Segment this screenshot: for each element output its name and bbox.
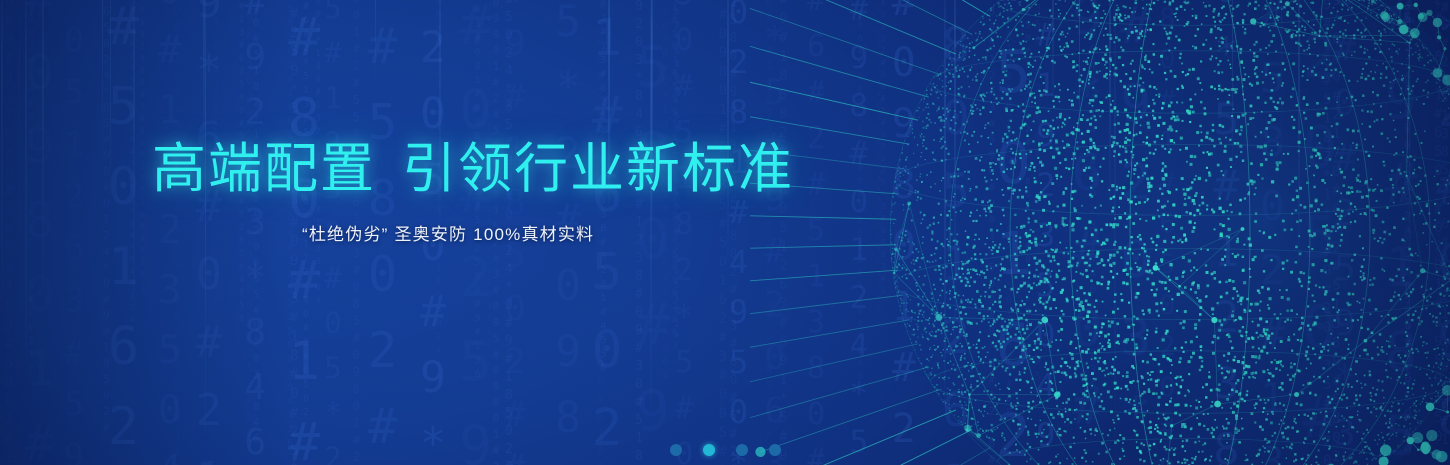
- globe-land-dot: [1377, 240, 1379, 242]
- globe-land-dot: [1243, 356, 1245, 358]
- globe-land-dot: [1142, 82, 1144, 84]
- globe-land-dot: [1423, 223, 1425, 225]
- globe-land-dot: [1393, 80, 1394, 81]
- globe-land-dot: [1320, 350, 1323, 353]
- globe-land-dot: [1122, 49, 1125, 52]
- globe-land-dot: [1061, 50, 1063, 52]
- globe-land-dot: [1394, 129, 1396, 131]
- globe-land-dot: [1093, 5, 1095, 7]
- globe-land-dot: [990, 143, 992, 145]
- globe-land-dot: [975, 306, 977, 308]
- globe-land-dot: [1436, 401, 1437, 402]
- globe-land-dot: [1068, 266, 1070, 268]
- globe-land-dot: [1401, 88, 1403, 90]
- globe-land-dot: [1093, 29, 1095, 31]
- globe-land-dot: [1368, 0, 1370, 1]
- globe-land-dot: [1385, 4, 1386, 5]
- globe-land-dot: [1084, 37, 1086, 39]
- globe-land-dot: [1298, 131, 1301, 134]
- globe-land-dot: [1308, 47, 1310, 49]
- globe-land-dot: [941, 160, 943, 162]
- globe-land-dot: [1244, 197, 1246, 199]
- globe-land-dot: [1185, 404, 1188, 407]
- globe-land-dot: [1308, 281, 1311, 284]
- globe-land-dot: [1434, 67, 1436, 69]
- globe-land-dot: [1282, 365, 1284, 367]
- globe-land-dot: [1418, 60, 1419, 61]
- globe-land-dot: [1222, 210, 1225, 213]
- globe-parallel: [930, 51, 1450, 113]
- globe-land-dot: [1405, 395, 1407, 397]
- globe-land-dot: [1219, 124, 1222, 127]
- globe-land-dot: [971, 113, 973, 115]
- globe-land-dot: [1400, 299, 1402, 301]
- globe-land-dot: [969, 47, 971, 49]
- globe-land-dot: [1254, 220, 1257, 223]
- globe-land-dot: [1348, 276, 1350, 278]
- globe-land-dot: [1340, 114, 1342, 116]
- globe-land-dot: [1278, 74, 1281, 77]
- globe-land-dot: [946, 214, 948, 216]
- globe-land-dot: [1420, 180, 1422, 182]
- globe-land-dot: [1385, 4, 1386, 5]
- globe-land-dot: [1171, 241, 1173, 243]
- globe-land-dot: [1341, 234, 1343, 236]
- globe-land-dot: [980, 21, 982, 23]
- globe-land-dot: [1335, 415, 1337, 417]
- globe-land-dot: [1284, 229, 1287, 232]
- globe-land-dot: [1146, 114, 1148, 116]
- globe-land-dot: [941, 180, 942, 181]
- globe-land-dot: [993, 23, 995, 25]
- globe-land-dot: [1035, 310, 1037, 312]
- globe-land-dot: [1272, 77, 1274, 79]
- globe-ray: [750, 344, 918, 413]
- globe-land-dot: [1305, 354, 1307, 356]
- globe-land-dot: [1114, 24, 1116, 26]
- globe-land-dot: [987, 202, 989, 204]
- globe-land-dot: [1391, 317, 1393, 319]
- globe-land-dot: [975, 79, 977, 81]
- matrix-column-small: 9#30#5182*1*5#9#20635#9203*846: [855, 0, 865, 385]
- globe-land-dot: [1131, 11, 1133, 13]
- globe-land-dot: [1158, 116, 1161, 119]
- globe-land-dot: [1410, 39, 1411, 40]
- globe-land-dot: [1423, 341, 1425, 343]
- globe-land-dot: [1019, 245, 1021, 247]
- globe-land-dot: [1090, 110, 1093, 113]
- globe-land-dot: [1443, 276, 1445, 278]
- globe-land-dot: [1023, 225, 1026, 228]
- globe-land-dot: [1412, 313, 1414, 315]
- globe-land-dot: [1152, 110, 1154, 112]
- globe-land-dot: [988, 137, 990, 139]
- globe-land-dot: [1082, 22, 1084, 24]
- globe-land-dot: [1314, 322, 1317, 325]
- globe-land-dot: [1218, 85, 1220, 87]
- globe-land-dot: [1384, 460, 1385, 461]
- globe-land-dot: [1423, 103, 1425, 105]
- globe-land-dot: [1082, 141, 1084, 143]
- globe-land-dot: [1371, 332, 1373, 334]
- globe-meridian: [1010, 0, 1370, 465]
- globe-land-dot: [1310, 204, 1313, 207]
- globe-land-dot: [1158, 268, 1160, 270]
- globe-land-dot: [999, 297, 1001, 299]
- globe-land-dot: [1282, 220, 1285, 223]
- globe-land-dot: [1322, 16, 1323, 17]
- globe-land-dot: [989, 210, 992, 213]
- globe-land-dot: [1222, 125, 1224, 127]
- globe-land-dot: [1407, 156, 1409, 158]
- globe-land-dot: [1366, 195, 1368, 197]
- globe-land-dot: [1347, 327, 1349, 329]
- globe-land-dot: [1427, 49, 1428, 50]
- globe-land-dot: [1165, 403, 1167, 405]
- globe-land-dot: [949, 80, 950, 81]
- globe-land-dot: [1032, 231, 1034, 233]
- globe-land-dot: [1314, 353, 1316, 355]
- globe-land-dot: [1334, 20, 1335, 21]
- matrix-streak: [954, 0, 956, 365]
- globe-land-dot: [1108, 339, 1110, 341]
- globe-land-dot: [1412, 71, 1413, 72]
- globe-land-dot: [1132, 324, 1134, 326]
- globe-land-dot: [1370, 399, 1371, 400]
- globe-land-dot: [1413, 416, 1414, 417]
- globe-land-dot: [1085, 269, 1088, 272]
- globe-land-dot: [1157, 379, 1160, 382]
- globe-land-dot: [1004, 22, 1006, 24]
- globe-land-dot: [1241, 335, 1243, 337]
- globe-land-dot: [1400, 94, 1401, 95]
- globe-land-dot: [1379, 439, 1380, 440]
- globe-land-dot: [1064, 46, 1066, 48]
- globe-land-dot: [1068, 117, 1070, 119]
- globe-land-dot: [1317, 55, 1319, 57]
- globe-land-dot: [1390, 299, 1393, 302]
- globe-land-dot: [997, 1, 998, 2]
- globe-land-dot: [1095, 207, 1097, 209]
- globe-land-dot: [1095, 62, 1098, 65]
- globe-land-dot: [1110, 60, 1112, 62]
- globe-land-dot: [1152, 23, 1154, 25]
- globe-land-dot: [1443, 76, 1445, 78]
- globe-land-dot: [1426, 205, 1428, 207]
- globe-land-dot: [1130, 267, 1133, 270]
- globe-land-dot: [1366, 195, 1369, 198]
- globe-land-dot: [1206, 271, 1209, 274]
- globe-land-dot: [1346, 0, 1347, 1]
- matrix-column: 5#98#0124*59*6#0#217: [841, 0, 877, 465]
- globe-land-dot: [1439, 398, 1440, 399]
- globe-land-dot: [1001, 97, 1004, 100]
- globe-meridian: [1130, 0, 1250, 465]
- globe-land-dot: [1110, 372, 1112, 374]
- globe-land-dot: [1266, 6, 1267, 7]
- globe-land-dot: [1419, 369, 1420, 370]
- globe-land-dot: [1398, 410, 1400, 412]
- globe-land-dot: [1044, 306, 1046, 308]
- globe-land-dot: [1424, 270, 1426, 272]
- globe-land-dot: [992, 40, 994, 42]
- globe-land-dot: [1418, 58, 1419, 59]
- globe-land-dot: [1399, 24, 1401, 26]
- globe-land-dot: [1286, 438, 1289, 441]
- globe-land-dot: [989, 162, 992, 165]
- globe-land-dot: [894, 180, 895, 181]
- globe-land-dot: [1195, 192, 1197, 194]
- globe-land-dot: [1111, 144, 1114, 147]
- globe-land-dot: [891, 259, 892, 260]
- globe-land-dot: [1214, 26, 1216, 28]
- globe-land-dot: [1237, 301, 1239, 303]
- globe-land-dot: [1425, 392, 1426, 393]
- globe-land-dot: [1365, 28, 1367, 30]
- globe-land-dot: [1242, 26, 1243, 27]
- globe-land-dot: [1355, 394, 1357, 396]
- globe-land-dot: [1022, 103, 1024, 105]
- globe-land-dot: [1213, 335, 1216, 338]
- globe-land-dot: [1147, 198, 1149, 200]
- globe-land-dot: [900, 159, 901, 160]
- globe-land-dot: [1386, 340, 1387, 341]
- globe-land-dot: [1364, 384, 1366, 386]
- globe-land-dot: [1124, 108, 1127, 111]
- globe-land-dot: [1113, 16, 1116, 19]
- globe-land-dot: [923, 214, 925, 216]
- globe-land-dot: [1152, 115, 1154, 117]
- globe-land-dot: [1029, 94, 1031, 96]
- globe-land-dot: [1104, 54, 1106, 56]
- globe-land-dot: [1269, 30, 1271, 32]
- globe-land-dot: [1314, 41, 1316, 43]
- globe-land-dot: [1441, 242, 1443, 244]
- globe-land-dot: [1219, 223, 1222, 226]
- globe-land-dot: [993, 94, 995, 96]
- globe-land-dot: [1411, 348, 1413, 350]
- globe-land-dot: [1130, 381, 1133, 384]
- globe-land-dot: [1383, 63, 1384, 64]
- globe-land-dot: [1236, 405, 1239, 408]
- globe-land-dot: [1261, 428, 1264, 431]
- globe-land-dot: [1128, 216, 1131, 219]
- globe-land-dot: [1270, 40, 1273, 43]
- globe-land-dot: [1229, 204, 1231, 206]
- globe-land-dot: [1407, 343, 1409, 345]
- globe-land-dot: [1072, 317, 1075, 320]
- globe-land-dot: [1066, 143, 1069, 146]
- globe-land-dot: [915, 192, 917, 194]
- globe-land-dot: [1400, 93, 1402, 95]
- globe-land-dot: [1361, 73, 1363, 75]
- globe-land-dot: [1124, 212, 1126, 214]
- globe-land-dot: [943, 126, 945, 128]
- globe-land-dot: [995, 97, 997, 99]
- globe-land-dot: [1351, 191, 1353, 193]
- globe-land-dot: [1399, 49, 1400, 50]
- globe-land-dot: [1443, 389, 1444, 390]
- globe-land-dot: [1002, 194, 1004, 196]
- globe-land-dot: [1352, 211, 1354, 213]
- globe-land-dot: [1305, 117, 1307, 119]
- globe-land-dot: [990, 9, 991, 10]
- globe-land-dot: [1061, 126, 1063, 128]
- globe-land-dot: [1106, 97, 1108, 99]
- globe-land-dot: [974, 269, 977, 272]
- globe-land-dot: [1191, 282, 1193, 284]
- globe-land-dot: [1340, 239, 1343, 242]
- globe-land-dot: [1104, 243, 1106, 245]
- globe-land-dot: [1241, 361, 1244, 364]
- globe-land-dot: [1194, 222, 1196, 224]
- globe-land-dot: [1296, 195, 1299, 198]
- globe-land-dot: [1313, 24, 1315, 26]
- globe-land-dot: [1398, 191, 1401, 194]
- globe-land-dot: [1272, 435, 1274, 437]
- globe-land-dot: [1019, 4, 1020, 5]
- globe-land-dot: [1421, 40, 1422, 41]
- globe-land-dot: [1198, 177, 1201, 180]
- globe-land-dot: [1014, 214, 1016, 216]
- globe-land-dot: [975, 234, 977, 236]
- globe-land-dot: [979, 110, 980, 111]
- globe-land-dot: [1298, 15, 1300, 17]
- globe-land-dot: [1311, 32, 1313, 34]
- globe-land-dot: [1305, 168, 1307, 170]
- globe-land-dot: [1046, 224, 1048, 226]
- globe-land-dot: [1364, 48, 1366, 50]
- globe-land-dot: [1260, 301, 1262, 303]
- globe-land-dot: [1150, 8, 1152, 10]
- globe-land-dot: [963, 35, 964, 36]
- globe-land-dot: [1350, 368, 1352, 370]
- globe-land-dot: [1192, 45, 1194, 47]
- globe-land-dot: [1215, 57, 1217, 59]
- globe-land-dot: [1402, 151, 1404, 153]
- globe-land-dot: [1309, 393, 1311, 395]
- globe-land-dot: [1081, 75, 1083, 77]
- globe-land-dot: [1141, 247, 1143, 249]
- globe-land-dot: [1388, 28, 1389, 29]
- globe-land-dot: [1162, 168, 1164, 170]
- globe-land-dot: [1307, 346, 1309, 348]
- globe-land-dot: [1346, 191, 1349, 194]
- globe-land-dot: [1240, 61, 1243, 64]
- globe-land-dot: [977, 108, 978, 109]
- globe-land-dot: [1441, 362, 1443, 364]
- globe-land-dot: [1301, 285, 1303, 287]
- globe-land-dot: [1210, 30, 1213, 33]
- globe-land-dot: [1340, 157, 1342, 159]
- globe-land-dot: [1324, 182, 1326, 184]
- globe-land-dot: [936, 85, 937, 86]
- globe-land-dot: [1185, 211, 1188, 214]
- globe-land-dot: [1162, 122, 1165, 125]
- globe-land-dot: [1217, 14, 1219, 16]
- globe-land-dot: [1138, 111, 1140, 113]
- globe-land-dot: [1275, 195, 1278, 198]
- globe-land-dot: [1034, 60, 1036, 62]
- globe-land-dot: [1294, 0, 1296, 2]
- globe-land-dot: [982, 24, 984, 26]
- globe-land-dot: [1140, 125, 1142, 127]
- globe-land-dot: [1406, 345, 1407, 346]
- globe-land-dot: [1222, 224, 1225, 227]
- globe-land-dot: [1357, 411, 1358, 412]
- globe-land-dot: [1390, 335, 1392, 337]
- globe-land-dot: [1254, 7, 1257, 10]
- globe-land-dot: [1411, 32, 1412, 33]
- globe-land-dot: [1114, 19, 1116, 21]
- globe-land-dot: [1148, 105, 1150, 107]
- globe-land-dot: [1000, 13, 1001, 14]
- globe-land-dot: [1308, 230, 1311, 233]
- matrix-column: 5#09801#2#555#9203*846: [881, 0, 927, 465]
- globe-parallel: [930, 351, 1450, 413]
- globe-land-dot: [1048, 297, 1050, 299]
- globe-land-dot: [1104, 375, 1106, 377]
- globe-land-dot: [1383, 161, 1385, 163]
- globe-land-dot: [984, 23, 985, 24]
- globe-land-dot: [1370, 411, 1372, 413]
- globe-land-dot: [1379, 39, 1381, 41]
- globe-land-dot: [1034, 170, 1036, 172]
- globe-land-dot: [1353, 462, 1355, 464]
- globe-land-dot: [1272, 413, 1274, 415]
- globe-land-dot: [1427, 402, 1428, 403]
- globe-land-dot: [1058, 38, 1060, 40]
- globe-land-dot: [1088, 304, 1090, 306]
- globe-land-dot: [892, 192, 893, 193]
- globe-land-dot: [1370, 110, 1373, 113]
- globe-land-dot: [1387, 314, 1388, 315]
- globe-land-dot: [1096, 281, 1098, 283]
- globe-land-dot: [1389, 361, 1391, 363]
- globe-land-dot: [990, 7, 991, 8]
- globe-land-dot: [1307, 457, 1308, 458]
- globe-land-dot: [1181, 423, 1184, 426]
- globe-land-dot: [1325, 44, 1327, 46]
- globe-land-dot: [1370, 313, 1372, 315]
- globe-land-dot: [1243, 67, 1245, 69]
- globe-land-dot: [1423, 294, 1424, 295]
- globe-land-dot: [1417, 39, 1418, 40]
- globe-land-dot: [1413, 403, 1415, 405]
- globe-land-dot: [1448, 94, 1449, 95]
- globe-land-dot: [1439, 313, 1441, 315]
- globe-land-dot: [1057, 127, 1059, 129]
- globe-land-dot: [1147, 185, 1150, 188]
- globe-land-dot: [1321, 179, 1324, 182]
- globe-land-dot: [1324, 131, 1326, 133]
- globe-land-dot: [985, 215, 987, 217]
- globe-land-dot: [1435, 75, 1436, 76]
- globe-land-dot: [1348, 186, 1350, 188]
- globe-land-dot: [954, 110, 955, 111]
- globe-land-dot: [1250, 49, 1251, 50]
- globe-land-dot: [1317, 208, 1320, 211]
- globe-land-dot: [1174, 347, 1176, 349]
- globe-land-dot: [1446, 77, 1447, 78]
- globe-land-dot: [962, 68, 964, 70]
- globe-land-dot: [1022, 25, 1024, 27]
- globe-land-dot: [1033, 257, 1036, 260]
- globe-land-dot: [1295, 0, 1297, 1]
- globe-land-dot: [1366, 458, 1368, 460]
- globe-land-dot: [1325, 290, 1328, 293]
- globe-land-dot: [1320, 269, 1323, 272]
